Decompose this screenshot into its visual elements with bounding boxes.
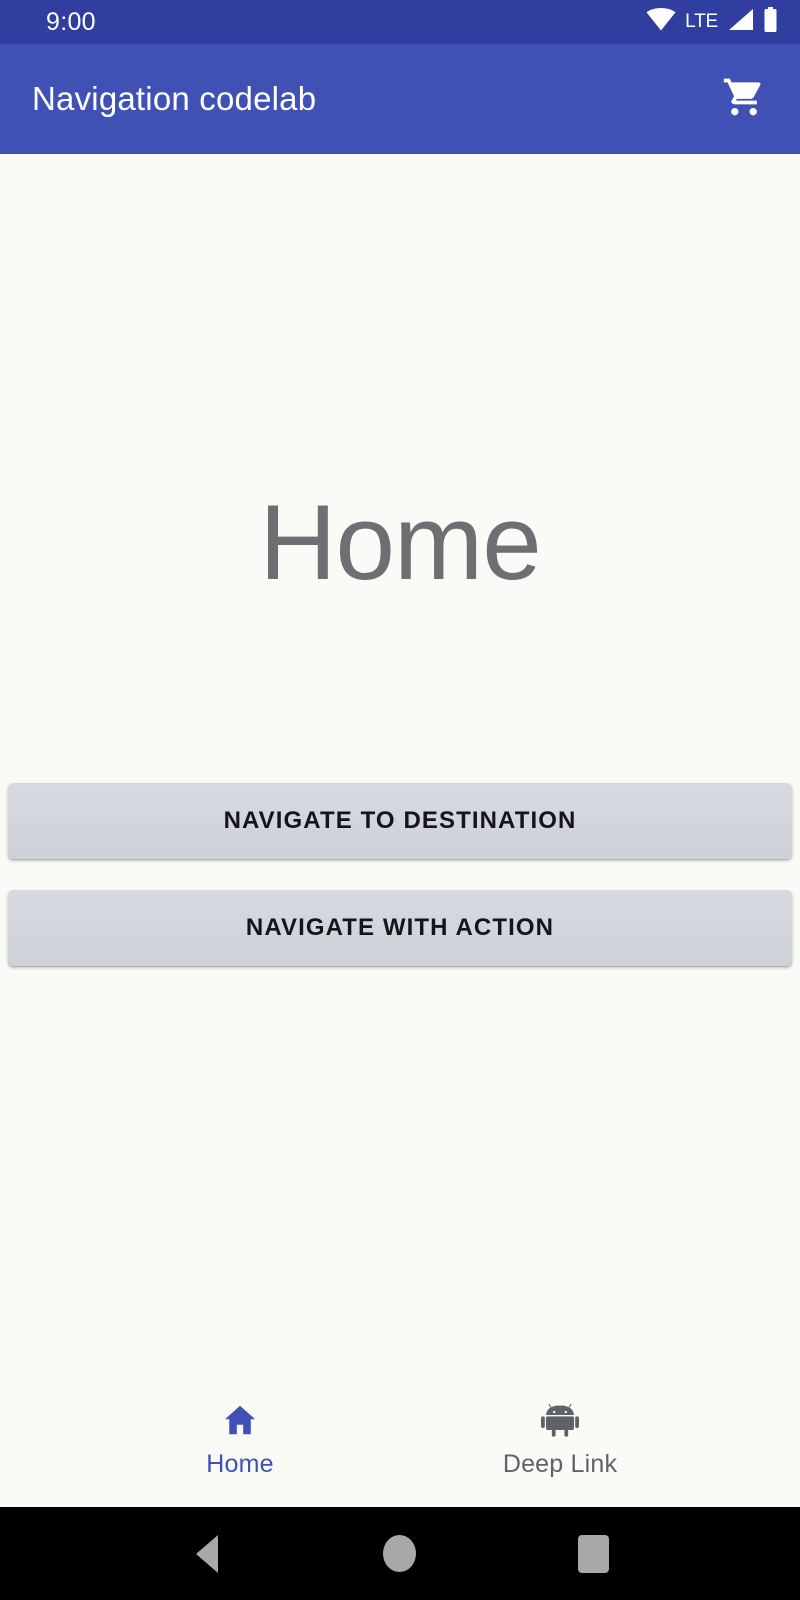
bottom-nav-item-deep-link[interactable]: Deep Link	[400, 1369, 720, 1507]
app-bar: Navigation codelab	[0, 44, 800, 154]
phone-screen: 9:00 LTE Navigation codelab	[0, 0, 800, 1600]
status-bar-icons: LTE	[646, 7, 778, 37]
home-icon	[220, 1397, 260, 1439]
shopping-cart-icon	[722, 75, 766, 124]
bottom-nav-label-home: Home	[206, 1450, 274, 1479]
bottom-nav-label-deep-link: Deep Link	[503, 1450, 617, 1479]
recents-button[interactable]	[558, 1519, 628, 1589]
bottom-nav-item-home[interactable]: Home	[80, 1369, 400, 1507]
back-button[interactable]	[172, 1519, 242, 1589]
bottom-navigation-bar: Home Deep Link	[0, 1369, 800, 1507]
triangle-back-icon	[196, 1535, 218, 1573]
android-robot-icon	[540, 1397, 580, 1439]
square-recents-icon	[578, 1535, 609, 1573]
status-bar-clock: 9:00	[46, 8, 96, 37]
navigate-to-destination-button[interactable]: NAVIGATE TO DESTINATION	[8, 783, 792, 859]
lte-label: LTE	[685, 11, 718, 33]
navigate-with-action-button[interactable]: NAVIGATE WITH ACTION	[8, 890, 792, 966]
system-navigation-bar	[0, 1507, 800, 1600]
home-button[interactable]	[365, 1519, 435, 1589]
battery-icon	[763, 7, 778, 37]
status-bar: 9:00 LTE	[0, 0, 800, 44]
main-content: Home NAVIGATE TO DESTINATION NAVIGATE WI…	[0, 154, 800, 1507]
cellular-signal-icon	[727, 8, 754, 36]
wifi-icon	[646, 8, 676, 36]
circle-home-icon	[383, 1535, 416, 1572]
shopping-cart-button[interactable]	[716, 71, 772, 127]
app-bar-title: Navigation codelab	[32, 80, 316, 118]
